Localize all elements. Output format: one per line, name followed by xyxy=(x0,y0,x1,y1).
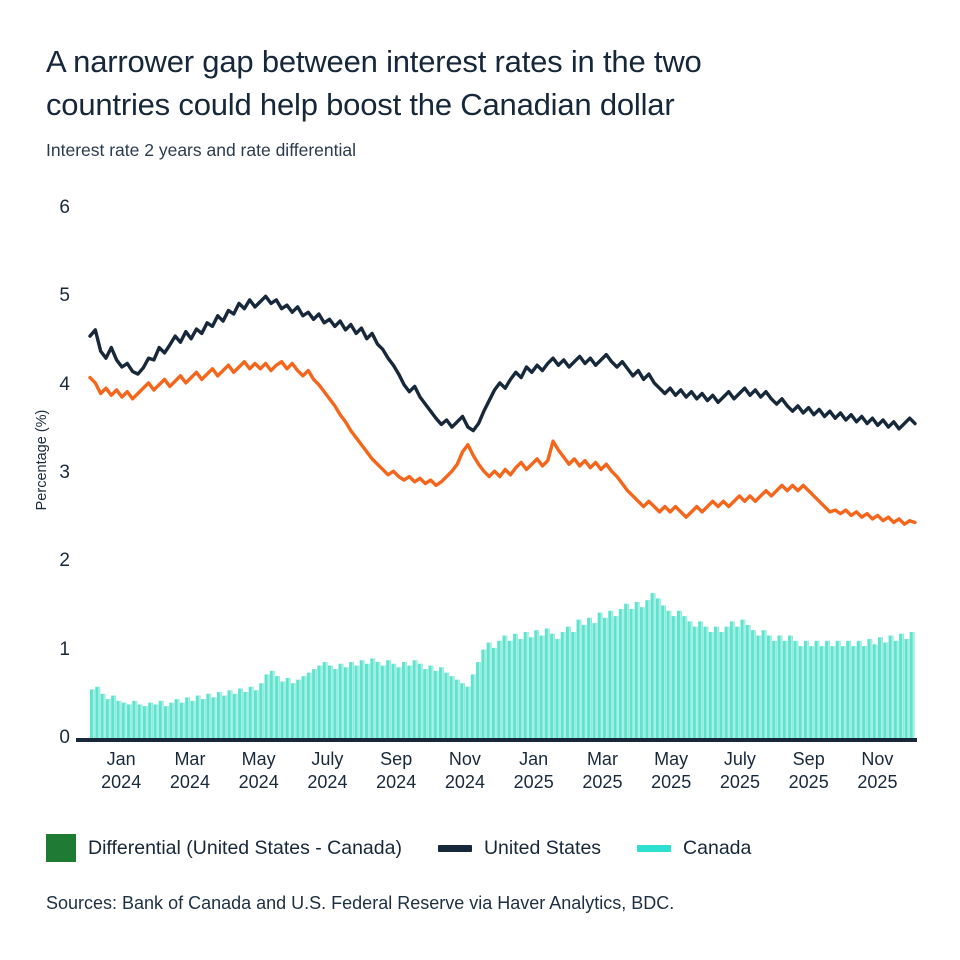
x-axis-tick-label: Mar2025 xyxy=(566,748,638,794)
y-axis-tick-label: 6 xyxy=(36,198,70,217)
y-axis-title: Percentage (%) xyxy=(34,380,50,540)
differential-bars xyxy=(90,593,915,738)
legend-swatch-line-icon xyxy=(637,845,671,852)
x-tick-year: 2025 xyxy=(498,771,570,794)
x-axis-tick-label: Nov2025 xyxy=(841,748,913,794)
x-tick-year: 2025 xyxy=(635,771,707,794)
y-axis-tick-label: 1 xyxy=(36,640,70,659)
x-tick-month: Mar xyxy=(587,749,618,769)
x-tick-month: July xyxy=(724,749,756,769)
x-axis-tick-label: Sep2024 xyxy=(360,748,432,794)
x-tick-year: 2024 xyxy=(291,771,363,794)
y-axis-tick-label: 5 xyxy=(36,286,70,305)
x-tick-month: Nov xyxy=(861,749,893,769)
x-tick-year: 2024 xyxy=(360,771,432,794)
chart-page: A narrower gap between interest rates in… xyxy=(0,0,960,960)
x-tick-month: May xyxy=(242,749,276,769)
series-line-canada xyxy=(90,362,915,525)
x-tick-month: May xyxy=(654,749,688,769)
x-tick-year: 2024 xyxy=(429,771,501,794)
x-tick-year: 2025 xyxy=(773,771,845,794)
legend-item-label: United States xyxy=(484,837,601,860)
x-tick-year: 2025 xyxy=(566,771,638,794)
x-axis-tick-label: July2024 xyxy=(291,748,363,794)
legend-item[interactable]: Canada xyxy=(637,837,751,860)
y-axis-tick-label: 2 xyxy=(36,551,70,570)
x-axis-tick-label: Jan2024 xyxy=(85,748,157,794)
legend-swatch-box-icon xyxy=(46,834,76,862)
y-axis-tick-label: 0 xyxy=(36,728,70,747)
legend-item[interactable]: United States xyxy=(438,837,601,860)
chart-subtitle: Interest rate 2 years and rate different… xyxy=(46,138,906,162)
x-axis-tick-label: May2024 xyxy=(223,748,295,794)
chart-legend: Differential (United States - Canada)Uni… xyxy=(46,832,787,864)
legend-item-label: Differential (United States - Canada) xyxy=(88,837,402,860)
x-tick-month: Jan xyxy=(519,749,548,769)
x-axis-tick-label: Mar2024 xyxy=(154,748,226,794)
x-tick-year: 2024 xyxy=(154,771,226,794)
x-tick-month: July xyxy=(311,749,343,769)
chart-header: A narrower gap between interest rates in… xyxy=(46,40,906,162)
legend-item-label: Canada xyxy=(683,837,751,860)
x-axis-tick-label: Nov2024 xyxy=(429,748,501,794)
x-tick-month: Mar xyxy=(174,749,205,769)
page-title: A narrower gap between interest rates in… xyxy=(46,40,906,126)
x-tick-year: 2025 xyxy=(841,771,913,794)
legend-item[interactable]: Differential (United States - Canada) xyxy=(46,834,402,862)
x-tick-month: Jan xyxy=(107,749,136,769)
x-tick-month: Sep xyxy=(793,749,825,769)
x-axis-tick-label: May2025 xyxy=(635,748,707,794)
x-axis-tick-label: Jan2025 xyxy=(498,748,570,794)
x-tick-year: 2024 xyxy=(223,771,295,794)
legend-swatch-line-icon xyxy=(438,845,472,852)
x-tick-month: Nov xyxy=(449,749,481,769)
x-tick-year: 2025 xyxy=(704,771,776,794)
x-axis-tick-label: Sep2025 xyxy=(773,748,845,794)
x-tick-year: 2024 xyxy=(85,771,157,794)
sources-note: Sources: Bank of Canada and U.S. Federal… xyxy=(46,893,674,914)
x-axis-tick-label: July2025 xyxy=(704,748,776,794)
series-line-united-states xyxy=(90,296,915,430)
x-tick-month: Sep xyxy=(380,749,412,769)
